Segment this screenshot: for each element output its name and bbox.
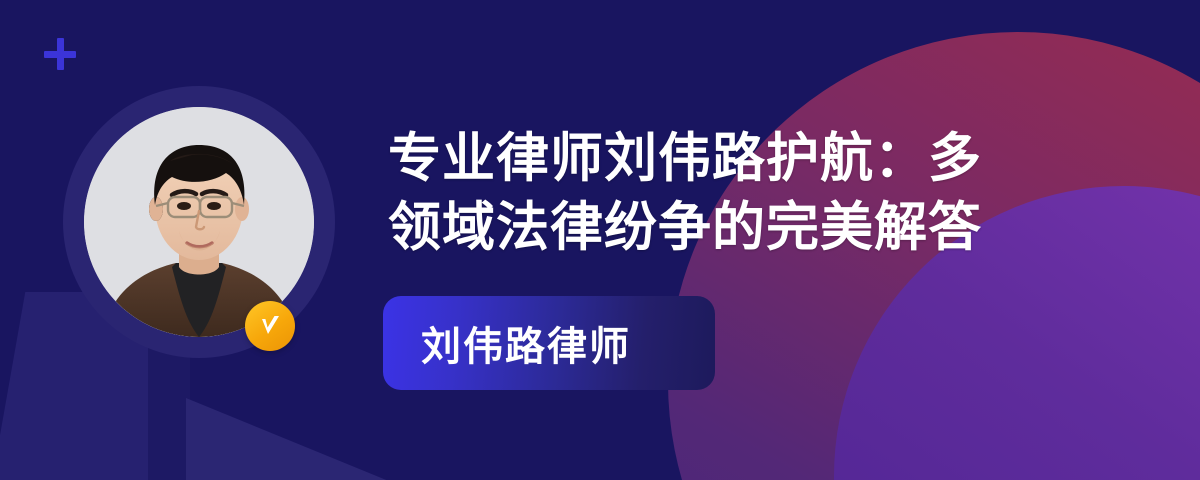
- promo-banner: 专业律师刘伟路护航：多 领域法律纷争的完美解答 刘伟路律师: [0, 0, 1200, 480]
- decor-polygon-triangle: [186, 398, 396, 480]
- verified-badge-icon: [245, 301, 295, 351]
- lawyer-name-button[interactable]: 刘伟路律师: [383, 296, 715, 390]
- page-title: 专业律师刘伟路护航：多 领域法律纷争的完美解答: [388, 124, 1088, 262]
- plus-icon: [44, 38, 76, 70]
- avatar: [63, 86, 335, 358]
- headline-block: 专业律师刘伟路护航：多 领域法律纷争的完美解答: [388, 124, 1088, 262]
